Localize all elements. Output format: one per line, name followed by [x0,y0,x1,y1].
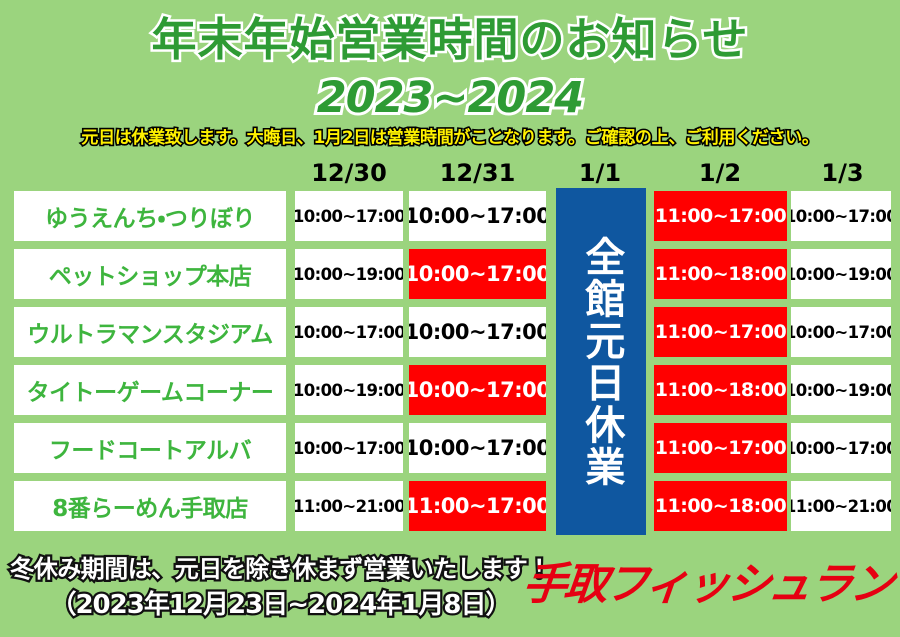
table-cell-hours: 10:00~19:00 [295,365,403,415]
table-cell-hours: 11:00~17:00 [654,307,787,357]
date-header-1231: 12/31 [405,158,550,188]
table-cell-hours: 10:00~17:00 [295,307,403,357]
table-cell-hours: 11:00~17:00 [409,481,546,531]
table-cell-hours: 11:00~17:00 [654,423,787,473]
footer-date-range: （2023年12月23日~2024年1月8日） [8,590,553,620]
date-header-0101: 1/1 [550,158,650,188]
table-row-store-name: フードコートアルバ [14,423,286,473]
poster-year-range: 2023~2024 [0,74,900,122]
poster-main-title: 年末年始営業時間のお知らせ [0,14,900,66]
table-cell-hours: 10:00~17:00 [791,307,891,357]
table-row-store-name: 8番らーめん手取店 [14,481,286,531]
table-cell-hours: 11:00~18:00 [654,481,787,531]
closed-all-day-banner: 全館元日休業 [556,188,646,535]
brand-logo-text: 手取フィッシュランド [521,563,900,607]
table-cell-hours: 11:00~17:00 [654,191,787,241]
closed-banner-label: 全館元日休業 [580,236,623,488]
table-cell-hours: 10:00~17:00 [295,191,403,241]
date-header-0102: 1/2 [650,158,790,188]
table-cell-hours: 10:00~17:00 [409,249,546,299]
table-row-store-name: ゆうえんち・つりぼり [14,191,286,241]
table-cell-hours: 11:00~21:00 [295,481,403,531]
table-cell-hours: 10:00~17:00 [409,365,546,415]
poster-footer: 冬休み期間は、元日を除き休まず営業いたします！ （2023年12月23日~202… [0,540,900,637]
table-cell-hours: 10:00~17:00 [409,307,546,357]
table-cell-hours: 10:00~17:00 [295,423,403,473]
table-cell-hours: 10:00~19:00 [791,249,891,299]
table-cell-hours: 11:00~21:00 [791,481,891,531]
footer-winter-break-note: 冬休み期間は、元日を除き休まず営業いたします！ [8,555,553,583]
table-row-store-name: ウルトラマンスタジアム [14,307,286,357]
table-cell-hours: 10:00~19:00 [791,365,891,415]
table-cell-hours: 10:00~17:00 [791,423,891,473]
date-header-1230: 12/30 [293,158,405,188]
table-cell-hours: 10:00~19:00 [295,249,403,299]
table-cell-hours: 10:00~17:00 [791,191,891,241]
table-cell-hours: 10:00~17:00 [409,191,546,241]
table-row-store-name: タイトーゲームコーナー [14,365,286,415]
table-cell-hours: 10:00~17:00 [409,423,546,473]
table-cell-hours: 11:00~18:00 [654,365,787,415]
poster-header: 年末年始営業時間のお知らせ 2023~2024 元日は休業致します。大晦日、1月… [0,0,900,158]
brand-logo: 手取フィッシュランド [565,554,890,616]
business-hours-poster: 年末年始営業時間のお知らせ 2023~2024 元日は休業致します。大晦日、1月… [0,0,900,637]
date-header-0103: 1/3 [790,158,895,188]
date-header-row: 12/30 12/31 1/1 1/2 1/3 [0,158,900,188]
poster-notice-text: 元日は休業致します。大晦日、1月2日は営業時間がことなります。ご確認の上、ご利用… [0,127,900,149]
table-row-store-name: ペットショップ本店 [14,249,286,299]
hours-table: ゆうえんち・つりぼり 10:00~17:00 10:00~17:00 11:00… [0,188,900,538]
table-cell-hours: 11:00~18:00 [654,249,787,299]
